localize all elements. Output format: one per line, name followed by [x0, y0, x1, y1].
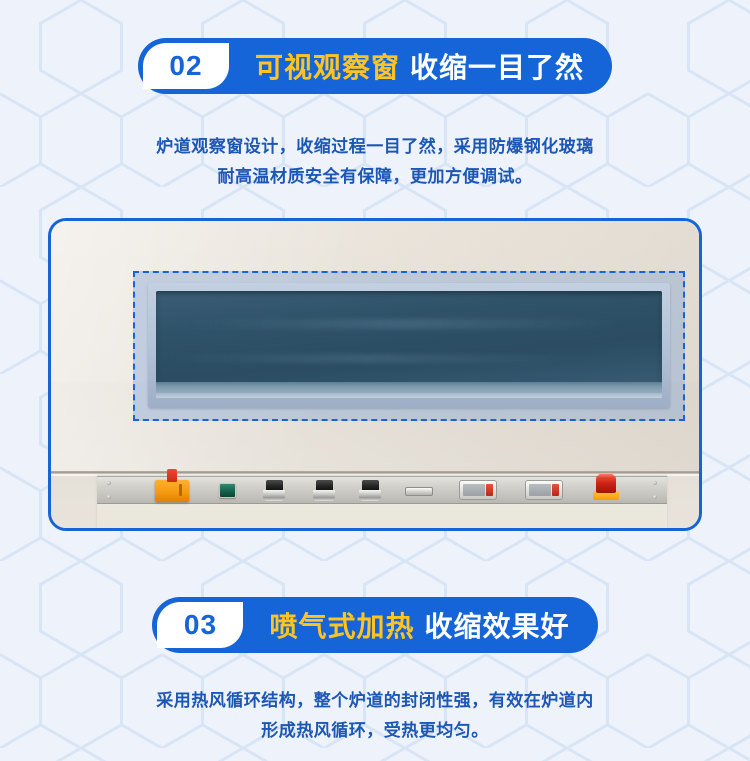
rotary-disconnect-switch[interactable] [155, 480, 189, 502]
section-02-description: 炉道观察窗设计，收缩过程一目了然，采用防爆钢化玻璃 耐高温材质安全有保障，更加方… [0, 132, 750, 192]
panel-screw [653, 481, 657, 485]
banner-title-02: 可视观察窗 收缩一目了然 [255, 46, 584, 86]
section-03-banner: 03 喷气式加热 收缩效果好 [0, 597, 750, 653]
rotary-switch-handle[interactable] [167, 469, 177, 482]
section-number-badge-03: 03 [157, 602, 243, 648]
machine-body [51, 221, 699, 528]
banner-title-main-02: 收缩一目了然 [410, 46, 584, 86]
section-number-badge-02: 02 [143, 43, 229, 89]
window-sill-highlight [156, 393, 662, 398]
section-number-02: 02 [153, 52, 218, 80]
power-indicator-light [219, 483, 236, 498]
banner-title-main-03: 收缩效果好 [425, 605, 570, 645]
banner-title-03: 喷气式加热 收缩效果好 [269, 605, 569, 645]
control-knob-3[interactable] [359, 480, 381, 502]
banner-pill-02: 02 可视观察窗 收缩一目了然 [138, 38, 612, 94]
section-03-description-line2: 形成热风循环，受热更均匀。 [0, 716, 750, 746]
emergency-stop-button[interactable] [593, 476, 619, 500]
section-02-description-line2: 耐高温材质安全有保障，更加方便调试。 [0, 162, 750, 192]
banner-title-accent-02: 可视观察窗 [255, 46, 400, 86]
observation-window-glass [156, 291, 662, 392]
glass-reflection-upper [186, 319, 621, 329]
observation-window-frame [148, 283, 670, 408]
rocker-switch-2[interactable] [525, 480, 563, 500]
knob-base [359, 490, 381, 501]
control-knob-2[interactable] [313, 480, 335, 502]
rocker-switch-indicator [552, 484, 559, 496]
banner-pill-03: 03 喷气式加热 收缩效果好 [152, 597, 597, 653]
emergency-stop-top [598, 474, 614, 479]
control-knob-1[interactable] [263, 480, 285, 502]
knob-base [263, 490, 285, 501]
glass-reflection-lower [166, 354, 571, 363]
banner-title-accent-03: 喷气式加热 [269, 605, 414, 645]
rocker-switch-1[interactable] [459, 480, 497, 500]
control-panel-box [97, 476, 667, 531]
knob-base [313, 490, 335, 501]
product-photo-frame [48, 218, 702, 531]
product-feature-page: 02 可视观察窗 收缩一目了然 炉道观察窗设计，收缩过程一目了然，采用防爆钢化玻… [0, 0, 750, 761]
section-03-description-line1: 采用热风循环结构，整个炉道的封闭性强，有效在炉道内 [0, 686, 750, 716]
rotary-switch-tick [179, 484, 182, 496]
section-02-banner: 02 可视观察窗 收缩一目了然 [0, 38, 750, 94]
rocker-switch-face [463, 484, 485, 496]
section-number-03: 03 [168, 611, 233, 639]
section-03-description: 采用热风循环结构，整个炉道的封闭性强，有效在炉道内 形成热风循环，受热更均匀。 [0, 686, 750, 746]
panel-screw [107, 481, 111, 485]
panel-screw [107, 495, 111, 499]
rocker-switch-indicator [486, 484, 493, 496]
panel-screw [653, 495, 657, 499]
blank-plate-slot [405, 487, 433, 496]
rocker-switch-face [529, 484, 551, 496]
section-02-description-line1: 炉道观察窗设计，收缩过程一目了然，采用防爆钢化玻璃 [0, 132, 750, 162]
